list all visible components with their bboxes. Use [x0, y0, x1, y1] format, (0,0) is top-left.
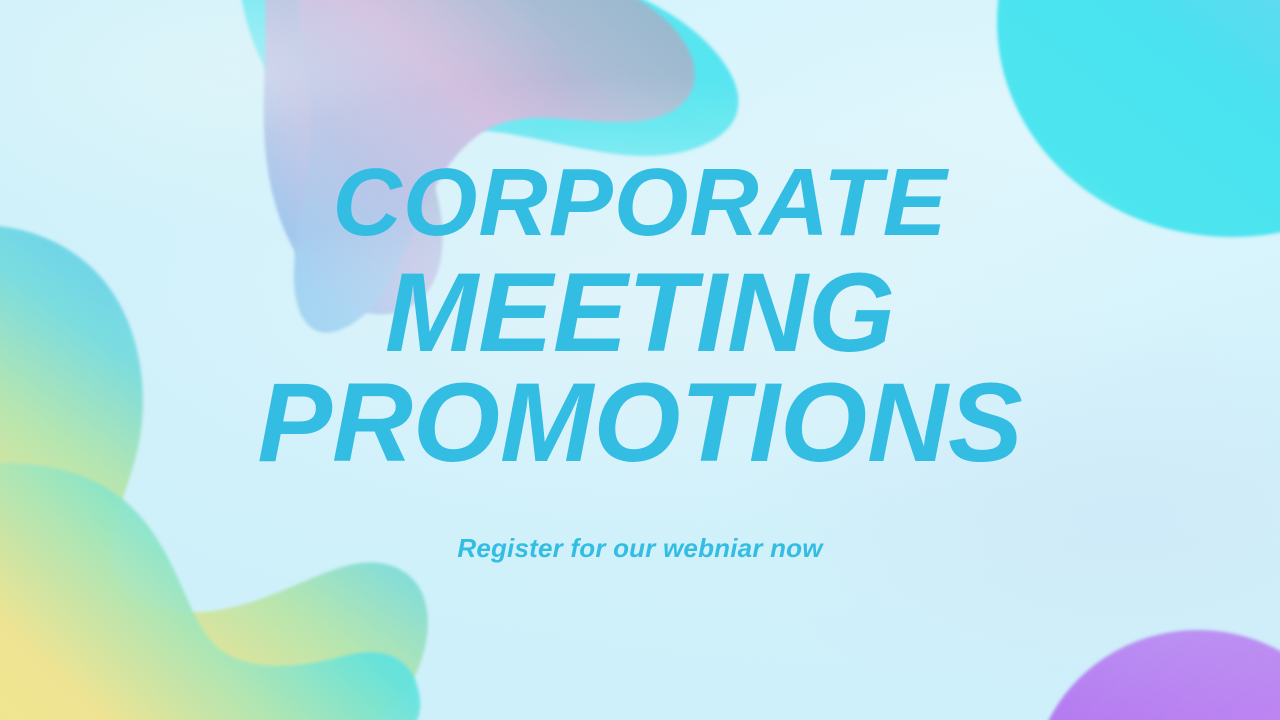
promo-poster: CORPORATE MEETING PROMOTIONS Register fo… [0, 0, 1280, 720]
subtitle-call-to-action: Register for our webniar now [457, 533, 822, 564]
headline-line-2: MEETING PROMOTIONS [0, 258, 1280, 478]
poster-content: CORPORATE MEETING PROMOTIONS Register fo… [0, 0, 1280, 720]
headline-line-1: CORPORATE [332, 156, 947, 250]
